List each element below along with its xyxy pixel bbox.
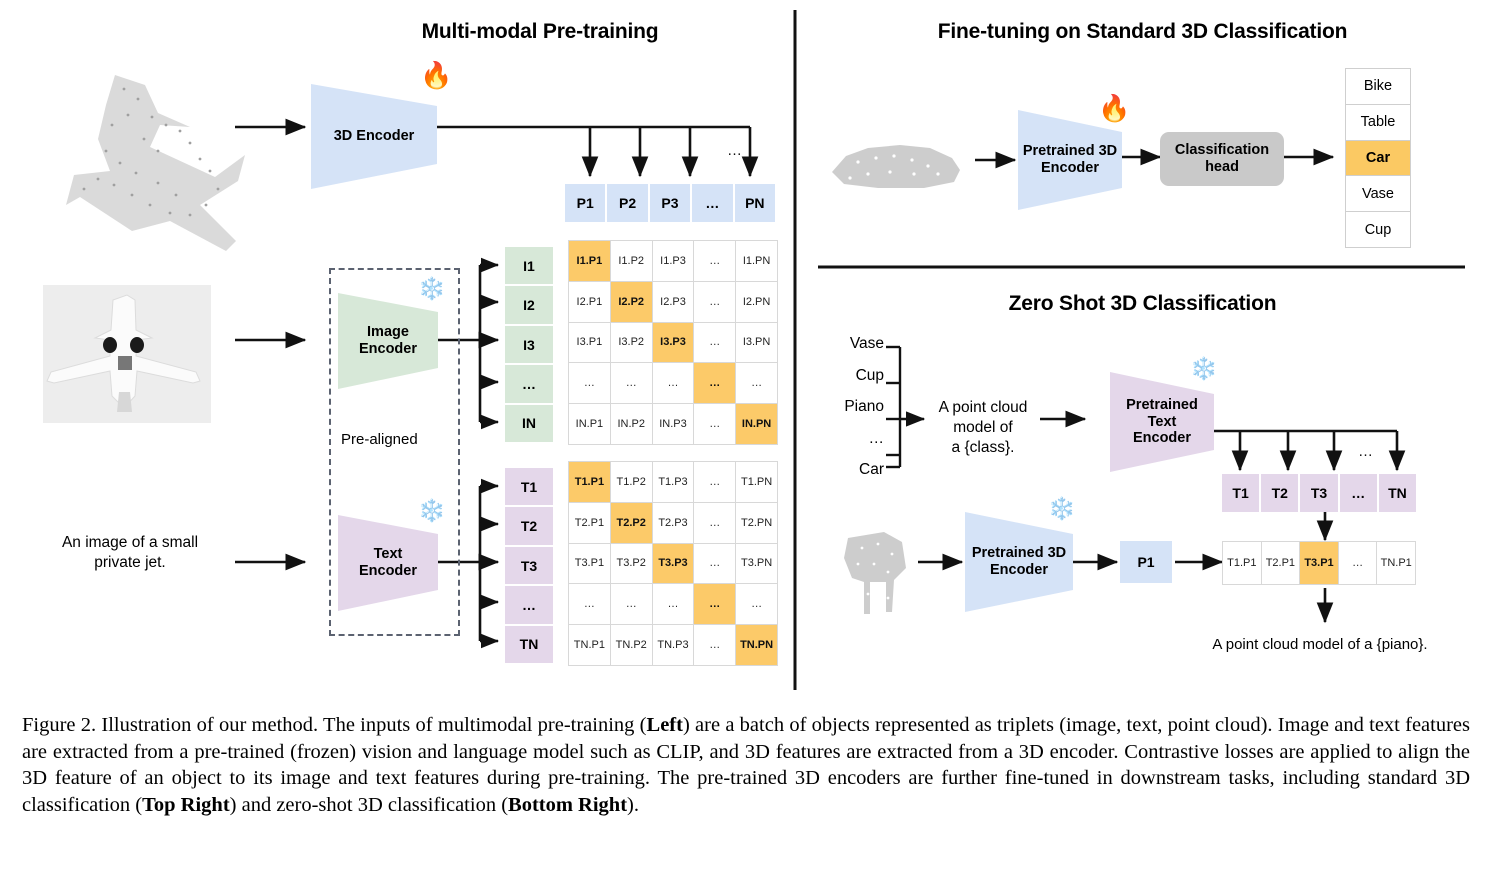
pretrained-3d-encoder-finetune: Pretrained 3D Encoder [1018,110,1122,210]
left-panel-title: Multi-modal Pre-training [290,20,790,44]
text-sim-cell-3-4: … [736,584,777,624]
plane-point-cloud [66,75,245,251]
figure-caption: Figure 2. Illustration of our method. Th… [22,712,1470,818]
p-feature-2: P3 [650,184,690,222]
p-feature-strip: P1P2P3…PN [565,184,775,222]
prompt-template: A point cloud model of a {class}. [922,398,1044,458]
zeroshot-score-2: T3.P1 [1300,542,1338,584]
encoder-3d: 3D Encoder [311,84,437,189]
image-label-3: … [505,365,553,402]
text-sim-cell-0-0: T1.P1 [569,462,610,502]
pretrained-3d-encoder-zeroshot: Pretrained 3D Encoder [965,512,1073,612]
t-feature-fanout [1212,431,1397,470]
text-sim-cell-0-1: T1.P2 [611,462,652,502]
image-sim-cell-3-4: … [736,363,777,403]
text-sim-cell-1-3: … [694,503,735,543]
text-label-2: T3 [505,547,553,584]
zeroshot-class-2: Piano [820,398,884,416]
text-encoder-label: Text Encoder [359,546,417,579]
text-similarity-matrix: T1.P1T1.P2T1.P3…T1.PNT2.P1T2.P2T2.P3…T2.… [568,461,778,666]
image-sim-cell-4-1: IN.P2 [611,404,652,444]
zeroshot-class-0: Vase [820,335,884,353]
text-sim-cell-3-3: … [694,584,735,624]
text-label-3: … [505,586,553,623]
p-feature-3: … [692,184,732,222]
image-sim-cell-3-2: … [653,363,694,403]
class-option-cup[interactable]: Cup [1346,212,1410,247]
image-sim-cell-0-2: I1.P3 [653,241,694,281]
image-sim-cell-4-3: … [694,404,735,444]
text-label-1: T2 [505,507,553,544]
fanout-ellipsis-zeroshot: … [1358,443,1373,460]
zeroshot-class-3: … [820,430,884,448]
image-sim-cell-2-1: I3.P2 [611,323,652,363]
image-sim-cell-2-3: … [694,323,735,363]
text-sim-cell-2-1: T3.P2 [611,544,652,584]
image-sim-cell-3-1: … [611,363,652,403]
zeroshot-t-feature-3: … [1340,474,1377,512]
p-feature-fanout [437,127,750,176]
text-sim-cell-3-1: … [611,584,652,624]
image-sim-cell-2-0: I3.P1 [569,323,610,363]
image-encoder: Image Encoder [338,293,438,389]
figure-canvas: … [0,0,1490,700]
car-point-cloud [832,145,960,188]
zeroshot-score-3: … [1339,542,1377,584]
image-sim-cell-1-1: I2.P2 [611,282,652,322]
zeroshot-score-0: T1.P1 [1223,542,1261,584]
zeroshot-t-feature-4: TN [1379,474,1416,512]
zeroshot-t-feature-0: T1 [1222,474,1259,512]
image-similarity-matrix: I1.P1I1.P2I1.P3…I1.PNI2.P1I2.P2I2.P3…I2.… [568,240,778,445]
image-sim-cell-1-2: I2.P3 [653,282,694,322]
class-option-car[interactable]: Car [1346,141,1410,177]
text-sim-cell-2-2: T3.P3 [653,544,694,584]
image-sim-cell-1-0: I2.P1 [569,282,610,322]
piano-point-cloud [844,532,906,614]
image-sim-cell-3-3: … [694,363,735,403]
text-sim-cell-3-0: … [569,584,610,624]
class-option-table[interactable]: Table [1346,105,1410,141]
classification-head-label: Classification head [1175,142,1269,176]
text-sim-cell-2-0: T3.P1 [569,544,610,584]
text-sim-cell-4-1: TN.P2 [611,625,652,665]
text-sim-cell-4-3: … [694,625,735,665]
image-sim-cell-0-1: I1.P2 [611,241,652,281]
t-feature-strip: T1T2T3…TN [1222,474,1416,512]
image-feature-labels: I1I2I3…IN [505,247,553,442]
text-sim-cell-2-4: T3.PN [736,544,777,584]
zeroshot-class-4: Car [820,461,884,479]
image-sim-cell-0-3: … [694,241,735,281]
image-sim-cell-2-4: I3.PN [736,323,777,363]
image-encoder-label: Image Encoder [359,324,417,357]
p-feature-1: P2 [607,184,647,222]
text-label-0: T1 [505,468,553,505]
image-sim-cell-2-2: I3.P3 [653,323,694,363]
top-right-panel-title: Fine-tuning on Standard 3D Classificatio… [820,20,1465,44]
text-sim-cell-2-3: … [694,544,735,584]
text-sim-cell-1-1: T2.P2 [611,503,652,543]
text-input-caption: An image of a small private jet. [30,533,230,573]
image-sim-cell-0-4: I1.PN [736,241,777,281]
text-sim-cell-0-4: T1.PN [736,462,777,502]
p1-feature-label: P1 [1137,554,1154,570]
zeroshot-class-1: Cup [820,367,884,385]
pretrained-3d-encoder-label: Pretrained 3D Encoder [1023,143,1117,176]
encoder-3d-label: 3D Encoder [334,128,415,145]
text-sim-cell-4-4: TN.PN [736,625,777,665]
image-label-4: IN [505,405,553,442]
pretrained-text-encoder-label: Pretrained Text Encoder [1110,397,1214,447]
image-label-0: I1 [505,247,553,284]
class-list-bracket [886,347,924,467]
zeroshot-t-feature-1: T2 [1261,474,1298,512]
zeroshot-t-feature-2: T3 [1300,474,1337,512]
zeroshot-result: A point cloud model of a {piano}. [1200,635,1440,655]
fanout-ellipsis-top: … [727,142,742,159]
class-prediction-list[interactable]: BikeTableCarVaseCup [1345,68,1411,248]
text-sim-cell-3-2: … [653,584,694,624]
classification-head: Classification head [1160,132,1284,186]
bottom-right-panel-title: Zero Shot 3D Classification [820,292,1465,316]
image-sim-cell-1-3: … [694,282,735,322]
zeroshot-score-row: T1.P1T2.P1T3.P1…TN.P1 [1222,541,1416,585]
image-sim-cell-4-4: IN.PN [736,404,777,444]
image-sim-cell-4-2: IN.P3 [653,404,694,444]
image-label-1: I2 [505,286,553,323]
class-option-bike[interactable]: Bike [1346,69,1410,105]
zeroshot-score-4: TN.P1 [1377,542,1415,584]
text-sim-cell-1-4: T2.PN [736,503,777,543]
text-feature-labels: T1T2T3…TN [505,468,553,663]
pretrained-3d-encoder-zs-label: Pretrained 3D Encoder [972,545,1066,578]
pre-aligned-label: Pre-aligned [341,431,418,448]
p-feature-4: PN [735,184,775,222]
class-option-vase[interactable]: Vase [1346,176,1410,212]
text-sim-cell-0-2: T1.P3 [653,462,694,502]
zeroshot-score-1: T2.P1 [1262,542,1300,584]
p-feature-0: P1 [565,184,605,222]
pretrained-text-encoder: Pretrained Text Encoder [1110,372,1214,472]
image-label-2: I3 [505,326,553,363]
p1-feature-box: P1 [1120,541,1172,583]
image-sim-cell-3-0: … [569,363,610,403]
text-sim-cell-4-0: TN.P1 [569,625,610,665]
text-sim-cell-1-0: T2.P1 [569,503,610,543]
text-label-4: TN [505,626,553,663]
text-encoder: Text Encoder [338,515,438,611]
image-sim-cell-4-0: IN.P1 [569,404,610,444]
image-sim-cell-0-0: I1.P1 [569,241,610,281]
text-sim-cell-0-3: … [694,462,735,502]
zeroshot-class-list: VaseCupPiano…Car [820,335,884,479]
text-sim-cell-1-2: T2.P3 [653,503,694,543]
jet-render-image [43,285,211,423]
text-sim-cell-4-2: TN.P3 [653,625,694,665]
image-sim-cell-1-4: I2.PN [736,282,777,322]
